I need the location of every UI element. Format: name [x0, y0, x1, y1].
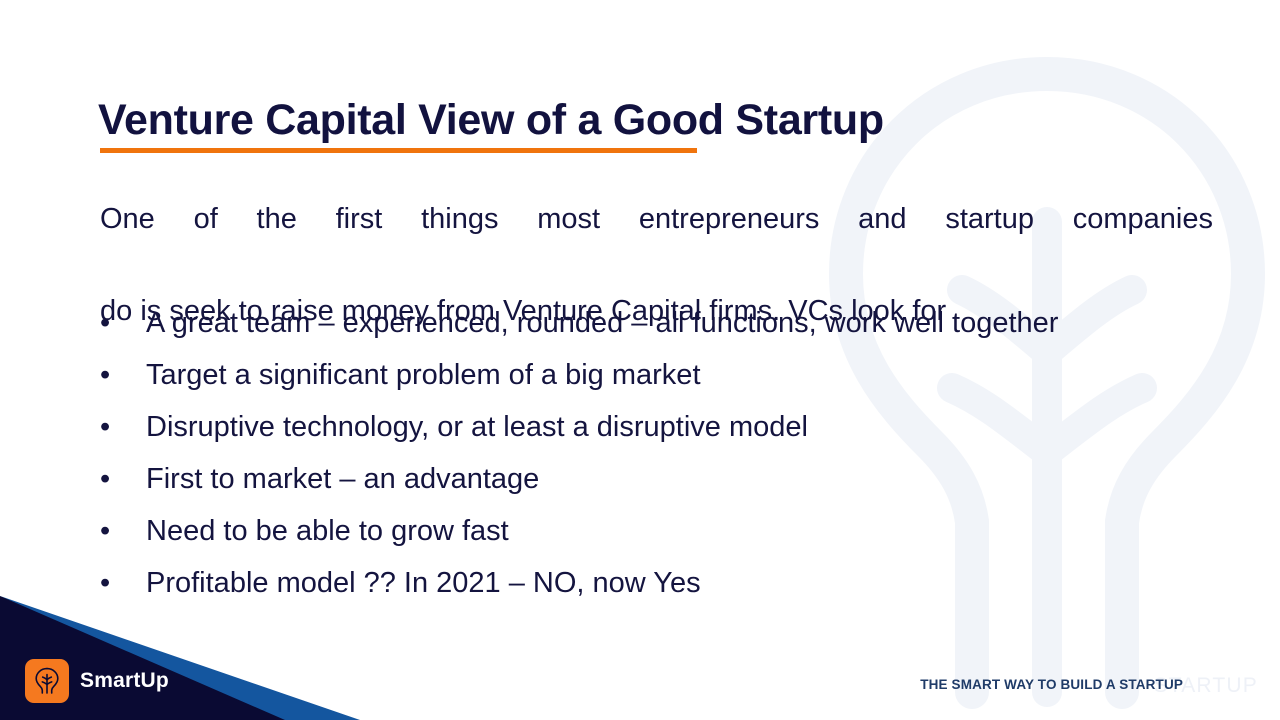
list-item: • Target a significant problem of a big … — [100, 352, 1213, 398]
title-underline-rule — [100, 148, 697, 153]
lightbulb-tree-icon — [25, 659, 69, 703]
bullet-list: • A great team – experienced, rounded – … — [100, 300, 1213, 612]
list-item: • Disruptive technology, or at least a d… — [100, 404, 1213, 450]
list-item-label: Need to be able to grow fast — [146, 515, 509, 547]
brand-lockup: SmartUp — [25, 659, 169, 703]
footer-tagline: THE SMART WAY TO BUILD A STARTUP — [920, 677, 1183, 692]
intro-line-1: One of the first things most entrepreneu… — [100, 196, 1213, 288]
list-item-label: Disruptive technology, or at least a dis… — [146, 411, 808, 443]
list-item-label: Target a significant problem of a big ma… — [146, 359, 701, 391]
list-item: • A great team – experienced, rounded – … — [100, 300, 1236, 346]
bullet-marker: • — [100, 352, 124, 398]
list-item: • Need to be able to grow fast — [100, 508, 1213, 554]
brand-name: SmartUp — [80, 669, 169, 693]
list-item-label: First to market – an advantage — [146, 463, 539, 495]
bullet-marker: • — [100, 404, 124, 450]
bullet-marker: • — [100, 300, 124, 346]
list-item: • First to market – an advantage — [100, 456, 1213, 502]
slide-canvas: STARTUP Venture Capital View of a Good S… — [0, 0, 1280, 720]
list-item-label: Profitable model ?? In 2021 – NO, now Ye… — [146, 567, 701, 599]
bullet-marker: • — [100, 508, 124, 554]
list-item-label: A great team – experienced, rounded – al… — [146, 307, 1058, 339]
page-title: Venture Capital View of a Good Startup — [98, 96, 884, 145]
bullet-marker: • — [100, 456, 124, 502]
